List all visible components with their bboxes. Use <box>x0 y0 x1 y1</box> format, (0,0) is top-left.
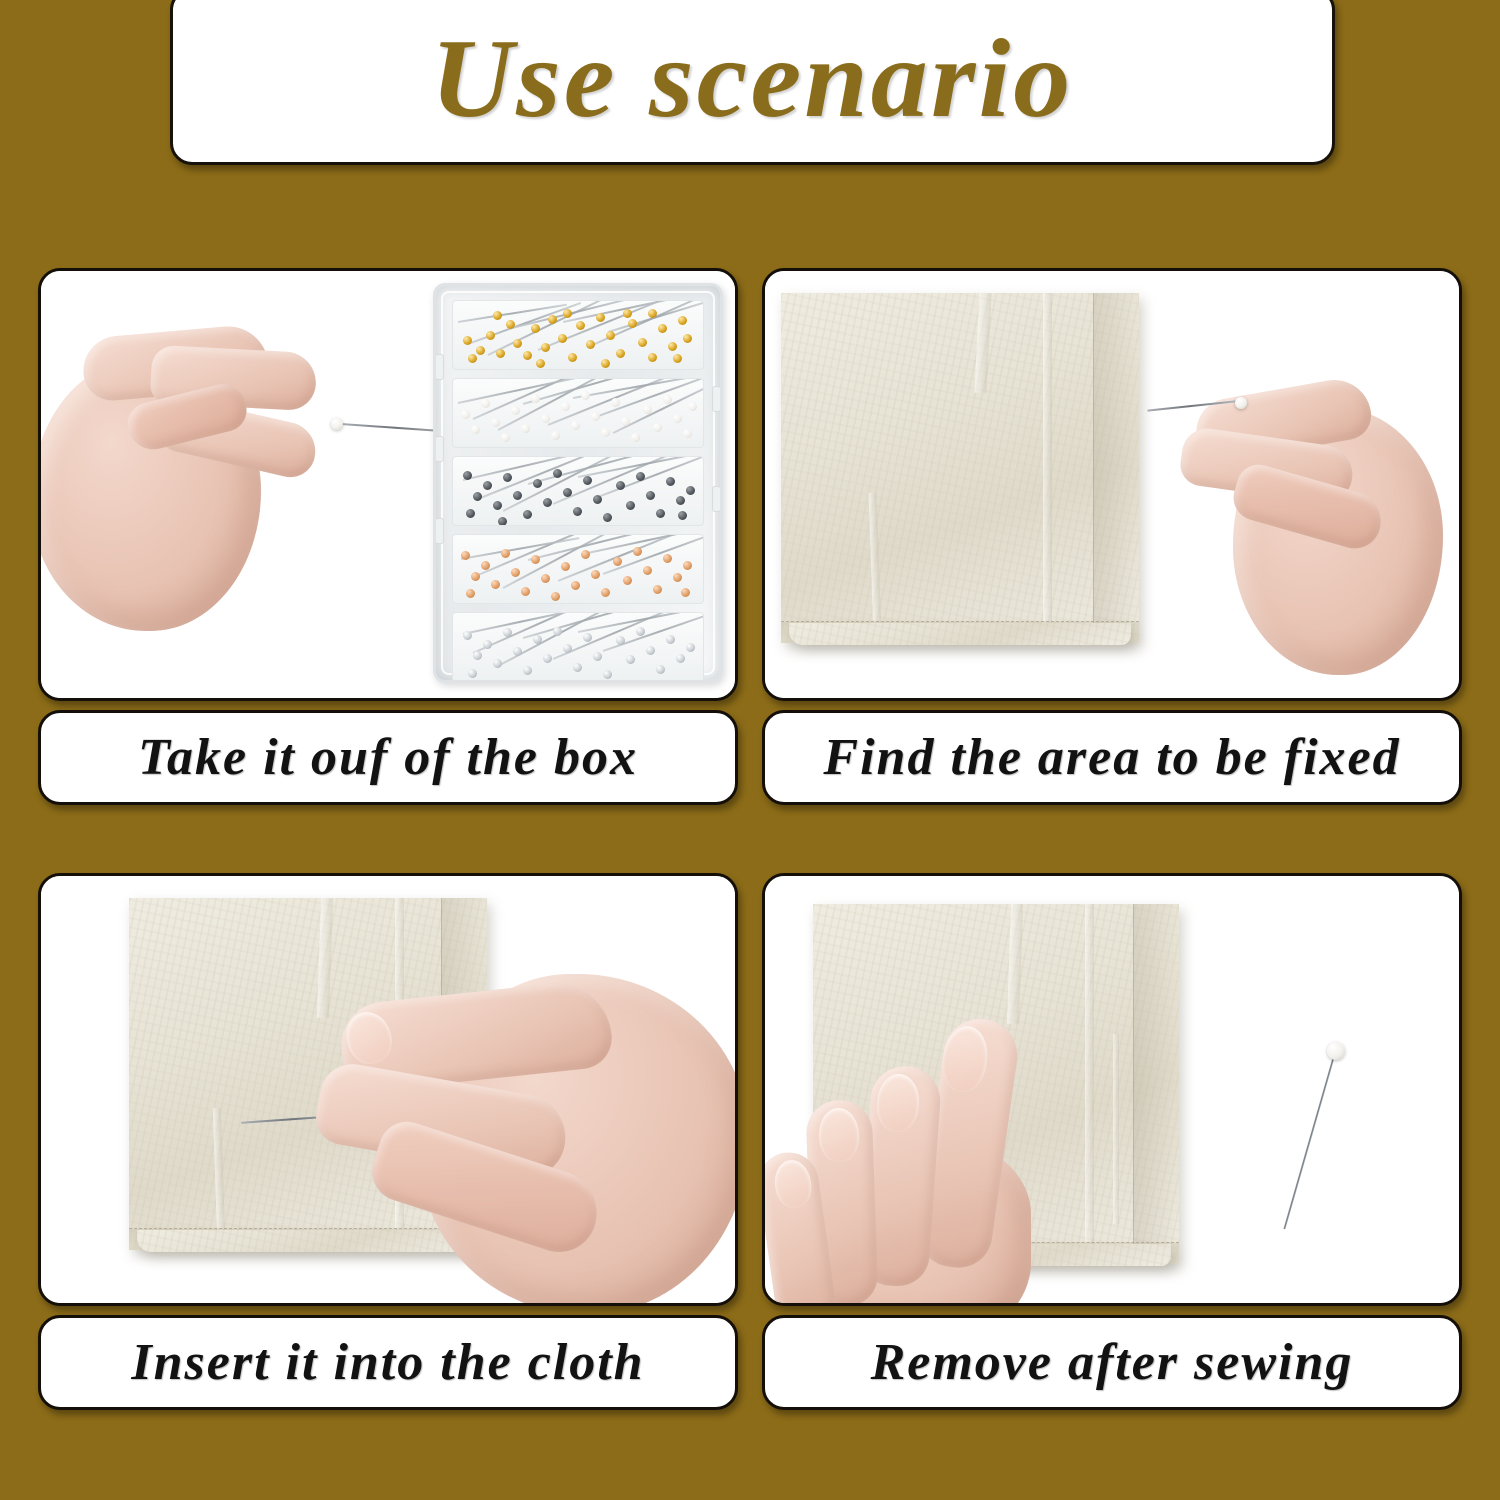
step-3-caption-card: Insert it into the cloth <box>38 1315 738 1410</box>
step-4-caption: Remove after sewing <box>871 1333 1354 1392</box>
step-panel-1: Take it ouf of the box <box>38 268 738 808</box>
step-2-caption: Find the area to be fixed <box>823 728 1400 787</box>
step-3-photo <box>38 873 738 1306</box>
step-2-caption-card: Find the area to be fixed <box>762 710 1462 805</box>
step-panel-3: Insert it into the cloth <box>38 873 738 1413</box>
step-1-caption-card: Take it ouf of the box <box>38 710 738 805</box>
pin-held-in-hand <box>1147 395 1257 413</box>
removed-pin <box>1251 1032 1371 1232</box>
step-4-photo <box>762 873 1462 1306</box>
scene-find-area <box>765 271 1459 698</box>
pin-storage-box <box>433 283 723 683</box>
step-4-caption-card: Remove after sewing <box>762 1315 1462 1410</box>
step-3-caption: Insert it into the cloth <box>131 1333 644 1392</box>
scene-insert-into-cloth <box>41 876 735 1303</box>
step-1-photo <box>38 268 738 701</box>
step-1-caption: Take it ouf of the box <box>138 728 638 787</box>
compartment-pearl-pins <box>452 378 704 448</box>
hand-resting-on-cloth <box>773 1004 1053 1306</box>
hand-holding-pin <box>1173 367 1453 677</box>
step-2-photo <box>762 268 1462 701</box>
compartment-gold-pins <box>452 300 704 370</box>
scene-remove-after-sewing <box>765 876 1459 1303</box>
step-panel-4: Remove after sewing <box>762 873 1462 1413</box>
scene-take-out-of-box <box>41 271 735 698</box>
hand-inserting-pin <box>309 934 738 1306</box>
hand-holding-pin <box>38 301 361 661</box>
compartment-gunmetal-pins <box>452 456 704 526</box>
steps-grid: Take it ouf of the box <box>38 268 1462 1453</box>
title-banner: Use scenario <box>170 0 1335 165</box>
compartment-silver-pins <box>452 612 704 682</box>
page-title: Use scenario <box>431 23 1074 135</box>
cloth-under-fold <box>789 623 1131 645</box>
step-panel-2: Find the area to be fixed <box>762 268 1462 808</box>
folded-cloth <box>781 293 1139 643</box>
compartment-rose-gold-pins <box>452 534 704 604</box>
